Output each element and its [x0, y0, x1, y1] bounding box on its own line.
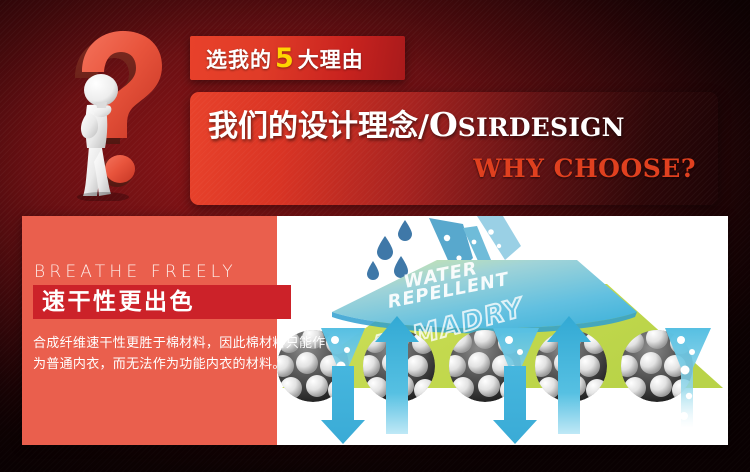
brand-initial: O [429, 105, 458, 144]
reasons-badge-prefix: 选我的 [206, 48, 272, 72]
feature-panel: WATER REPELLENT ARMADRY [22, 216, 728, 445]
fabric-technology-diagram: WATER REPELLENT ARMADRY [277, 216, 728, 445]
reasons-badge-text: 选我的5大理由 [190, 45, 364, 72]
design-concept-title: 我们的设计理念/OSIRDESIGN [208, 106, 625, 145]
feature-eyebrow-label: BREATHE FREELY [34, 262, 237, 282]
design-concept-banner: 我们的设计理念/OSIRDESIGN WHY CHOOSE? [190, 92, 718, 205]
feature-body-text: 合成纤维速干性更胜于棉材料，因此棉材料只能作为普通内衣，而无法作为功能内衣的材料… [33, 333, 333, 375]
design-concept-title-cn: 我们的设计理念/ [208, 109, 429, 144]
why-choose-subtitle: WHY CHOOSE? [473, 154, 696, 183]
promo-banner-canvas: 选我的5大理由 我们的设计理念/OSIRDESIGN WHY CHOOSE? [0, 0, 750, 472]
feature-heading-label: 速干性更出色 [42, 288, 195, 316]
reasons-badge-banner: 选我的5大理由 [190, 36, 405, 80]
question-mark-mascot-icon [58, 26, 176, 201]
brand-name: SIRDESIGN [458, 113, 625, 142]
reasons-badge-number: 5 [272, 43, 298, 74]
reasons-badge-suffix: 大理由 [298, 48, 364, 72]
